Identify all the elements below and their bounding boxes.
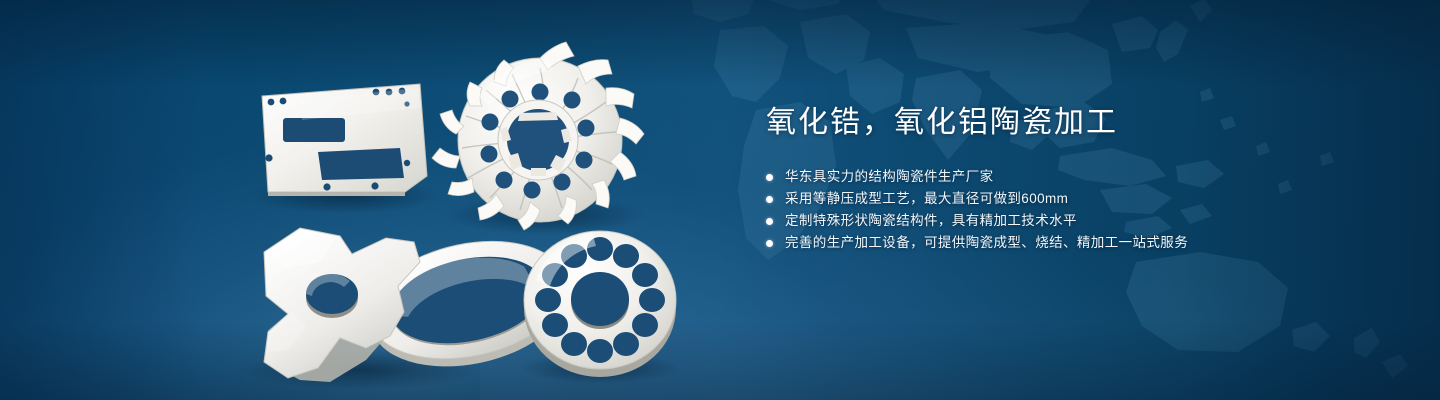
list-item: 完善的生产加工设备，可提供陶瓷成型、烧结、精加工一站式服务 (766, 232, 1386, 254)
bullet-dot-icon (766, 218, 773, 225)
bullet-dot-icon (766, 240, 773, 247)
banner-copy: 氧化锆，氧化铝陶瓷加工 华东具实力的结构陶瓷件生产厂家 采用等静压成型工艺，最大… (766, 104, 1386, 254)
feature-text: 完善的生产加工设备，可提供陶瓷成型、烧结、精加工一站式服务 (785, 232, 1188, 254)
promo-banner: 氧化锆，氧化铝陶瓷加工 华东具实力的结构陶瓷件生产厂家 采用等静压成型工艺，最大… (0, 0, 1440, 400)
feature-text: 采用等静压成型工艺，最大直径可做到600mm (785, 188, 1068, 210)
bullet-dot-icon (766, 196, 773, 203)
page-title: 氧化锆，氧化铝陶瓷加工 (766, 104, 1386, 142)
feature-text: 华东具实力的结构陶瓷件生产厂家 (785, 166, 994, 188)
list-item: 定制特殊形状陶瓷结构件，具有精加工技术水平 (766, 210, 1386, 232)
feature-text: 定制特殊形状陶瓷结构件，具有精加工技术水平 (785, 210, 1077, 232)
list-item: 华东具实力的结构陶瓷件生产厂家 (766, 166, 1386, 188)
feature-list: 华东具实力的结构陶瓷件生产厂家 采用等静压成型工艺，最大直径可做到600mm 定… (766, 166, 1386, 254)
bullet-dot-icon (766, 174, 773, 181)
list-item: 采用等静压成型工艺，最大直径可做到600mm (766, 188, 1386, 210)
